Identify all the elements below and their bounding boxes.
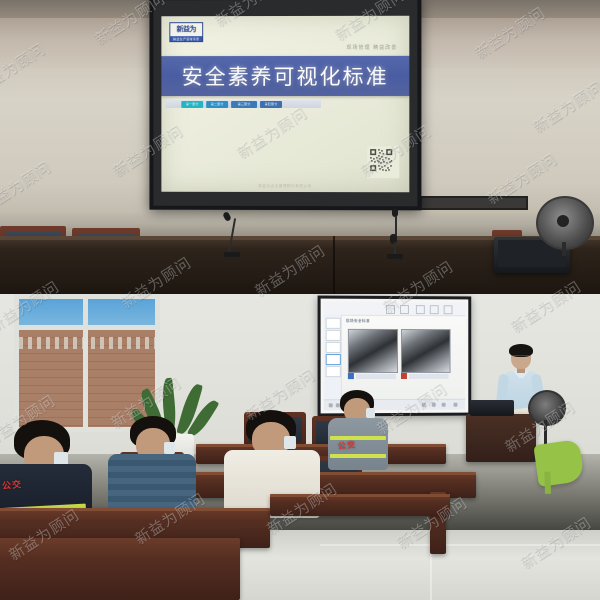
photo-collage: 新益为 精益生产咨询专家 现场管理 精益改善 安全素养可视化标准 第一部分 第二… [0, 0, 600, 600]
green-plastic-chair [533, 439, 584, 487]
attendee-1-uniform-text: 公交 [1, 477, 22, 492]
slide-image-before [348, 329, 398, 373]
window-mullion-vertical [83, 299, 88, 427]
slide-nav-tab-2: 第二部分 [206, 101, 228, 108]
attendee-4: 公交 [322, 390, 392, 470]
company-logo-main: 新益为 [170, 23, 202, 36]
floor-tile-seam-1 [320, 544, 600, 546]
pedestal-fan-top [536, 196, 594, 248]
bottom-photo-panel: 现场安全标准 [0, 294, 600, 600]
slide-nav-strip: 第一部分 第二部分 第三部分 第四部分 [165, 100, 321, 108]
face-mask [164, 442, 175, 454]
slide-title: 安全素养可视化标准 [182, 61, 389, 91]
slide-nav-tab-4: 第四部分 [260, 101, 282, 108]
conference-desk-seam [333, 236, 335, 294]
top-photo-panel: 新益为 精益生产咨询专家 现场管理 精益改善 安全素养可视化标准 第一部分 第二… [0, 0, 600, 294]
wooden-podium [466, 414, 536, 462]
microphone-right [382, 208, 412, 262]
classroom-desk-front-panel [0, 538, 240, 600]
powerpoint-slide-title: 现场安全标准 [346, 319, 370, 324]
slide-nav-tab-1: 第一部分 [181, 101, 203, 108]
projection-screen-top: 新益为 精益生产咨询专家 现场管理 精益改善 安全素养可视化标准 第一部分 第二… [149, 0, 421, 210]
qr-code-icon [367, 146, 399, 178]
face-mask [284, 436, 296, 449]
face-mask [366, 408, 375, 418]
slide-footer: 新益为企业管理顾问有限公司 [161, 184, 409, 189]
slide-caption-after [401, 373, 449, 379]
glasses-icon [512, 355, 530, 360]
slide-title-band: 安全素养可视化标准 [161, 56, 409, 96]
company-logo-sub: 精益生产咨询专家 [170, 36, 202, 41]
slide-surface: 新益为 精益生产咨询专家 现场管理 精益改善 安全素养可视化标准 第一部分 第二… [161, 16, 409, 193]
slide-subtitle: 现场管理 精益改善 [346, 44, 397, 51]
slide-caption-before [348, 373, 396, 379]
wall-picture-frame [420, 196, 528, 210]
classroom-desk-row-0 [270, 494, 450, 516]
company-logo: 新益为 精益生产咨询专家 [169, 22, 203, 42]
microphone-left [222, 212, 252, 260]
attendee-2 [108, 416, 200, 520]
powerpoint-ribbon [324, 302, 466, 317]
slide-nav-tab-3: 第三部分 [231, 101, 257, 108]
slide-image-after [401, 329, 451, 373]
window-mullion-horizontal [19, 325, 155, 330]
attendee-4-uniform-text: 公交 [337, 439, 356, 452]
powerpoint-thumbnail-pane [324, 315, 342, 400]
podium-laptop [470, 400, 514, 416]
